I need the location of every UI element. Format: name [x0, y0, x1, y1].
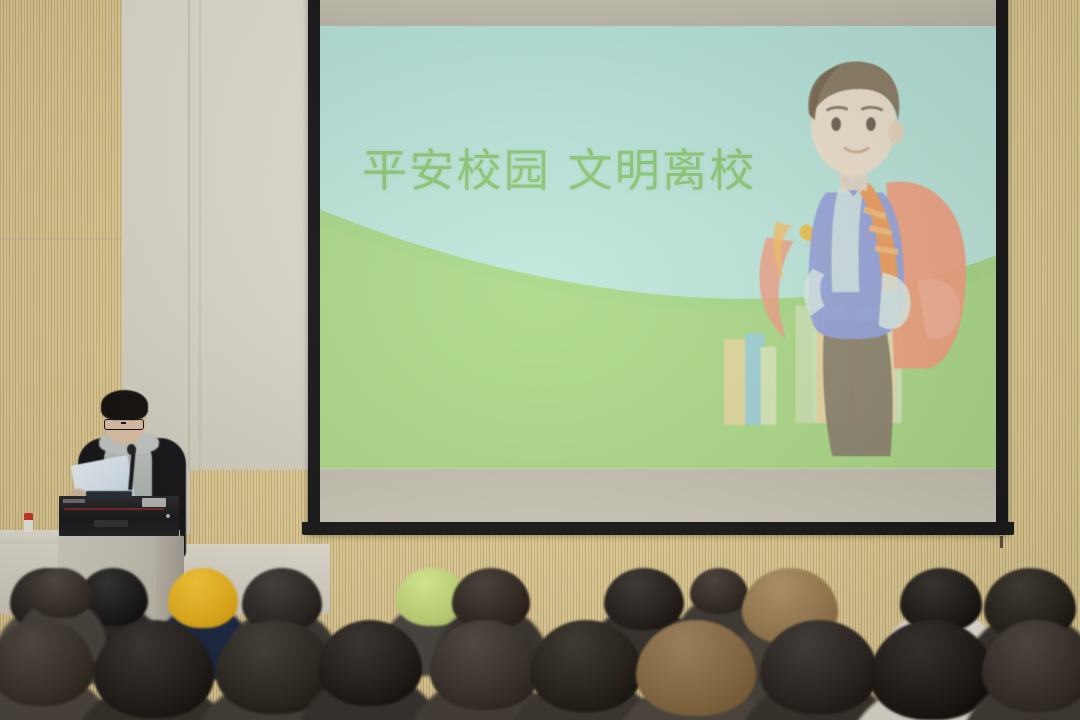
wood-wall-seam: [0, 238, 122, 239]
wall-pillar-edge-b: [199, 0, 201, 470]
book-stack-small: [724, 333, 776, 425]
audience-section: [0, 550, 1080, 720]
trousers: [823, 319, 893, 456]
person-front-8: [760, 620, 878, 714]
presenter-glasses-bridge: [121, 422, 126, 424]
wood-wall-under-window: [190, 470, 320, 548]
lectern-control-panel: [94, 520, 128, 527]
presenter-hair: [101, 390, 148, 420]
person-topknot: [690, 568, 748, 614]
person-yellow-hat: [168, 568, 238, 628]
lectern-brand-logo: [63, 499, 85, 503]
presenter-glasses-icon: [104, 419, 144, 430]
screen-hook-icon: [1000, 536, 1003, 548]
lectern-label-tag: [142, 498, 166, 507]
wall-pillar-edge-a: [188, 0, 190, 470]
microphone-head-icon: [127, 444, 136, 455]
projection-screen-bottom-bar: [302, 522, 1014, 535]
projected-slide: 平安校园 文明离校: [320, 26, 996, 469]
lecture-hall-photo: 平安校园 文明离校: [0, 0, 1080, 720]
projection-screen-surface: 平安校园 文明离校: [320, 0, 996, 524]
lectern-led-icon: [166, 514, 170, 518]
person-dark-hair-2: [604, 568, 684, 630]
person-bun: [30, 568, 92, 618]
water-bottle: [24, 513, 33, 532]
slide-illustration: [724, 46, 996, 466]
laptop-edge: [86, 491, 132, 499]
screen-unlit-bottom: [320, 469, 996, 524]
lectern-accent-strip: [64, 508, 164, 510]
screen-unlit-top: [320, 0, 996, 26]
slide-headline: 平安校园 文明离校: [362, 134, 757, 199]
